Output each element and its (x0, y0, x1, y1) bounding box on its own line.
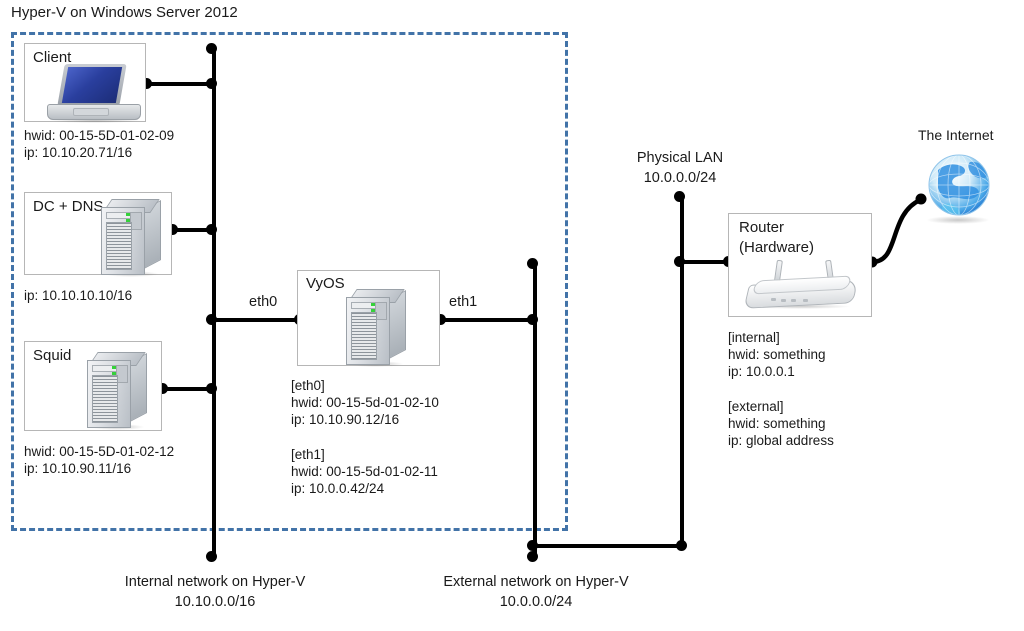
dc-dns-label: DC + DNS (33, 198, 103, 216)
internet-label: The Internet (918, 127, 994, 144)
vyos-eth1-hwid: hwid: 00-15-5d-01-02-11 (291, 463, 438, 480)
wire-bus-to-vyos-eth0 (214, 318, 300, 322)
vyos-eth0-title: [eth0] (291, 377, 325, 394)
node-router[interactable]: Router (Hardware) (728, 213, 872, 317)
vyos-port-eth1-label: eth1 (449, 294, 477, 311)
server-tower-icon (101, 199, 163, 279)
external-bus-tap-vyos-dot (527, 314, 538, 325)
internal-bus-bottom-dot (206, 551, 217, 562)
wire-vyos-eth1-to-external-bus (440, 318, 535, 322)
globe-icon (920, 152, 998, 228)
external-bus-bottom-dot (527, 551, 538, 562)
vyos-eth0-hwid: hwid: 00-15-5d-01-02-10 (291, 394, 439, 411)
squid-label: Squid (33, 347, 71, 365)
physical-lan-caption-line2: 10.0.0.0/24 (620, 170, 740, 187)
physical-lan-caption-line1: Physical LAN (620, 150, 740, 167)
wifi-router-icon (747, 258, 859, 312)
physical-lan-top-dot (674, 191, 685, 202)
external-network-bus (533, 263, 537, 560)
physical-lan-tap-router-dot (674, 256, 685, 267)
client-detail-ip: ip: 10.10.20.71/16 (24, 144, 132, 161)
vyos-eth1-ip: ip: 10.0.0.42/24 (291, 480, 384, 497)
dc-dns-detail-ip: ip: 10.10.10.10/16 (24, 287, 132, 304)
external-bus-top-dot (527, 258, 538, 269)
vyos-eth0-ip: ip: 10.10.90.12/16 (291, 411, 399, 428)
external-network-caption-line1: External network on Hyper-V (414, 574, 658, 591)
node-vyos[interactable]: VyOS (297, 270, 440, 366)
physical-lan-bus (680, 196, 684, 548)
router-internal-ip: ip: 10.0.0.1 (728, 363, 795, 380)
internal-network-bus (212, 48, 216, 560)
router-internal-hwid: hwid: something (728, 346, 826, 363)
router-external-title: [external] (728, 398, 784, 415)
wire-client-to-bus (146, 82, 214, 86)
server-tower-icon (87, 352, 149, 432)
network-diagram-canvas: Hyper-V on Windows Server 2012 (0, 0, 1024, 631)
internal-network-caption-line2: 10.10.0.0/16 (96, 594, 334, 611)
node-client[interactable]: Client (24, 43, 146, 122)
router-label-line1: Router (739, 219, 784, 237)
external-network-caption-line2: 10.0.0.0/24 (414, 594, 658, 611)
vyos-eth1-title: [eth1] (291, 446, 325, 463)
node-dc-dns[interactable]: DC + DNS (24, 192, 172, 275)
router-internal-title: [internal] (728, 329, 780, 346)
vyos-label: VyOS (306, 275, 345, 293)
bus-tap-squid-dot (206, 383, 217, 394)
client-detail-hwid: hwid: 00-15-5D-01-02-09 (24, 127, 174, 144)
external-bus-jog-dot (527, 540, 538, 551)
server-tower-icon (346, 289, 408, 369)
internal-network-caption-line1: Internal network on Hyper-V (96, 574, 334, 591)
router-external-hwid: hwid: something (728, 415, 826, 432)
bus-tap-dcdns-dot (206, 224, 217, 235)
bus-tap-vyos-dot (206, 314, 217, 325)
bus-tap-client-dot (206, 78, 217, 89)
router-external-ip: ip: global address (728, 432, 834, 449)
node-squid[interactable]: Squid (24, 341, 162, 431)
laptop-icon (47, 64, 143, 124)
squid-detail-hwid: hwid: 00-15-5D-01-02-12 (24, 443, 174, 460)
wire-external-bus-to-physical-lan (533, 544, 684, 548)
vyos-port-eth0-label: eth0 (249, 294, 277, 311)
squid-detail-ip: ip: 10.10.90.11/16 (24, 460, 131, 477)
page-title: Hyper-V on Windows Server 2012 (11, 4, 238, 22)
internal-bus-top-dot (206, 43, 217, 54)
router-label-line2: (Hardware) (739, 239, 814, 257)
